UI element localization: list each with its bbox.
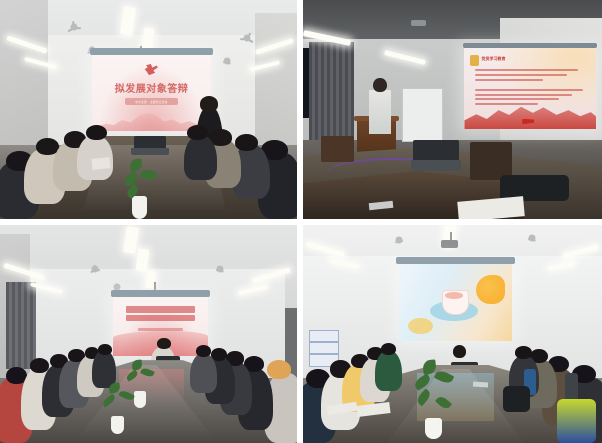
- wallpaper-blob: [408, 318, 433, 335]
- speaker: [369, 90, 391, 134]
- slide-text-line: [475, 69, 578, 71]
- ceiling-light: [135, 248, 148, 271]
- slide-text-line: [475, 74, 567, 76]
- attendee-head: [86, 125, 107, 140]
- attendee-head: [196, 345, 211, 357]
- screen-roller: [463, 43, 597, 48]
- screen-roller: [111, 290, 210, 297]
- table-plant: [122, 158, 158, 219]
- projector-mount: [450, 232, 452, 241]
- projection-screen[interactable]: Desktop wallpaper — teacup on a blue sau…: [399, 264, 513, 340]
- projector: [441, 240, 459, 248]
- slide-text-line: [475, 79, 543, 81]
- ceiling-fan: [205, 55, 250, 68]
- slide-subtitle: 中共支部 · 主题党日活动: [125, 98, 177, 105]
- slide-text-line: [475, 103, 538, 105]
- screen-roller: [396, 257, 514, 264]
- poster: [309, 330, 339, 342]
- scene-bottom-right: Desktop wallpaper — teacup on a blue sau…: [303, 225, 602, 443]
- chair: [321, 136, 354, 162]
- slide-title-line: [126, 306, 194, 312]
- ceiling-fan: [509, 232, 554, 245]
- slide-subtitle-line: [138, 328, 184, 332]
- backpack: [557, 399, 596, 443]
- slide-title: 党员学习教育: [482, 56, 506, 62]
- attendee: [190, 354, 217, 393]
- attendee: [184, 136, 217, 180]
- ceiling-fan: [375, 234, 423, 247]
- chair: [470, 142, 512, 179]
- speaker-head: [373, 78, 386, 92]
- photo-bottom-right[interactable]: Desktop wallpaper — teacup on a blue sau…: [303, 225, 602, 443]
- slide-text-line: [475, 94, 572, 96]
- projection-screen[interactable]: 党员学习教育: [464, 48, 596, 129]
- table-plant: [414, 360, 453, 438]
- attendee-head: [187, 125, 208, 140]
- projection-screen[interactable]: 拟发展对象答辩 中共支部 · 主题党日活动: [92, 55, 211, 132]
- curtain: [6, 282, 36, 369]
- screen-roller: [90, 48, 214, 55]
- attendee-head: [235, 134, 259, 152]
- photo-top-left[interactable]: 拟发展对象答辩 中共支部 · 主题党日活动: [0, 0, 297, 219]
- slide-title: 拟发展对象答辩: [97, 80, 206, 95]
- presenter-head: [157, 338, 170, 349]
- scene-bottom-left: 计算机学院全体学生党员 党风廉政教育大会 党支部主题教育大会: [0, 225, 297, 443]
- smartphone: [473, 381, 488, 387]
- slide-mountain-graphic: [464, 95, 596, 129]
- papers: [92, 157, 111, 170]
- cpc-hammer-sickle-icon: [144, 63, 159, 76]
- cpc-badge-icon: [470, 55, 479, 66]
- backpack: [503, 386, 530, 412]
- slide-text-line: [475, 89, 583, 91]
- wallpaper-blob: [476, 275, 506, 304]
- ceiling-fan: [42, 20, 107, 35]
- whiteboard: [402, 88, 443, 143]
- laptop: [411, 140, 462, 171]
- attendee-head: [515, 346, 531, 359]
- photo-collage: 拟发展对象答辩 中共支部 · 主题党日活动: [0, 0, 602, 443]
- scene-top-right: 党员学习教育: [303, 0, 602, 219]
- table-plant: [101, 382, 134, 434]
- scene-top-left: 拟发展对象答辩 中共支部 · 主题党日活动: [0, 0, 297, 219]
- attendee-head: [98, 344, 112, 355]
- laptop: [131, 136, 170, 156]
- photo-top-right[interactable]: 党员学习教育: [303, 0, 602, 219]
- poster: [309, 342, 339, 354]
- attendee-head: [381, 343, 396, 355]
- ceiling-fan: [68, 262, 121, 275]
- slide-title-line: [126, 315, 194, 321]
- presenter-head: [453, 345, 466, 358]
- water-bottle: [565, 373, 578, 401]
- slide-text-line: [475, 98, 559, 100]
- attendee-head: [267, 360, 291, 379]
- attendee: [375, 351, 402, 390]
- projector: [411, 20, 426, 27]
- ceiling-fan: [196, 262, 244, 275]
- presenter-head: [200, 96, 218, 111]
- photo-bottom-left[interactable]: 计算机学院全体学生党员 党风廉政教育大会 党支部主题教育大会: [0, 225, 297, 443]
- ceiling-fan: [217, 31, 276, 46]
